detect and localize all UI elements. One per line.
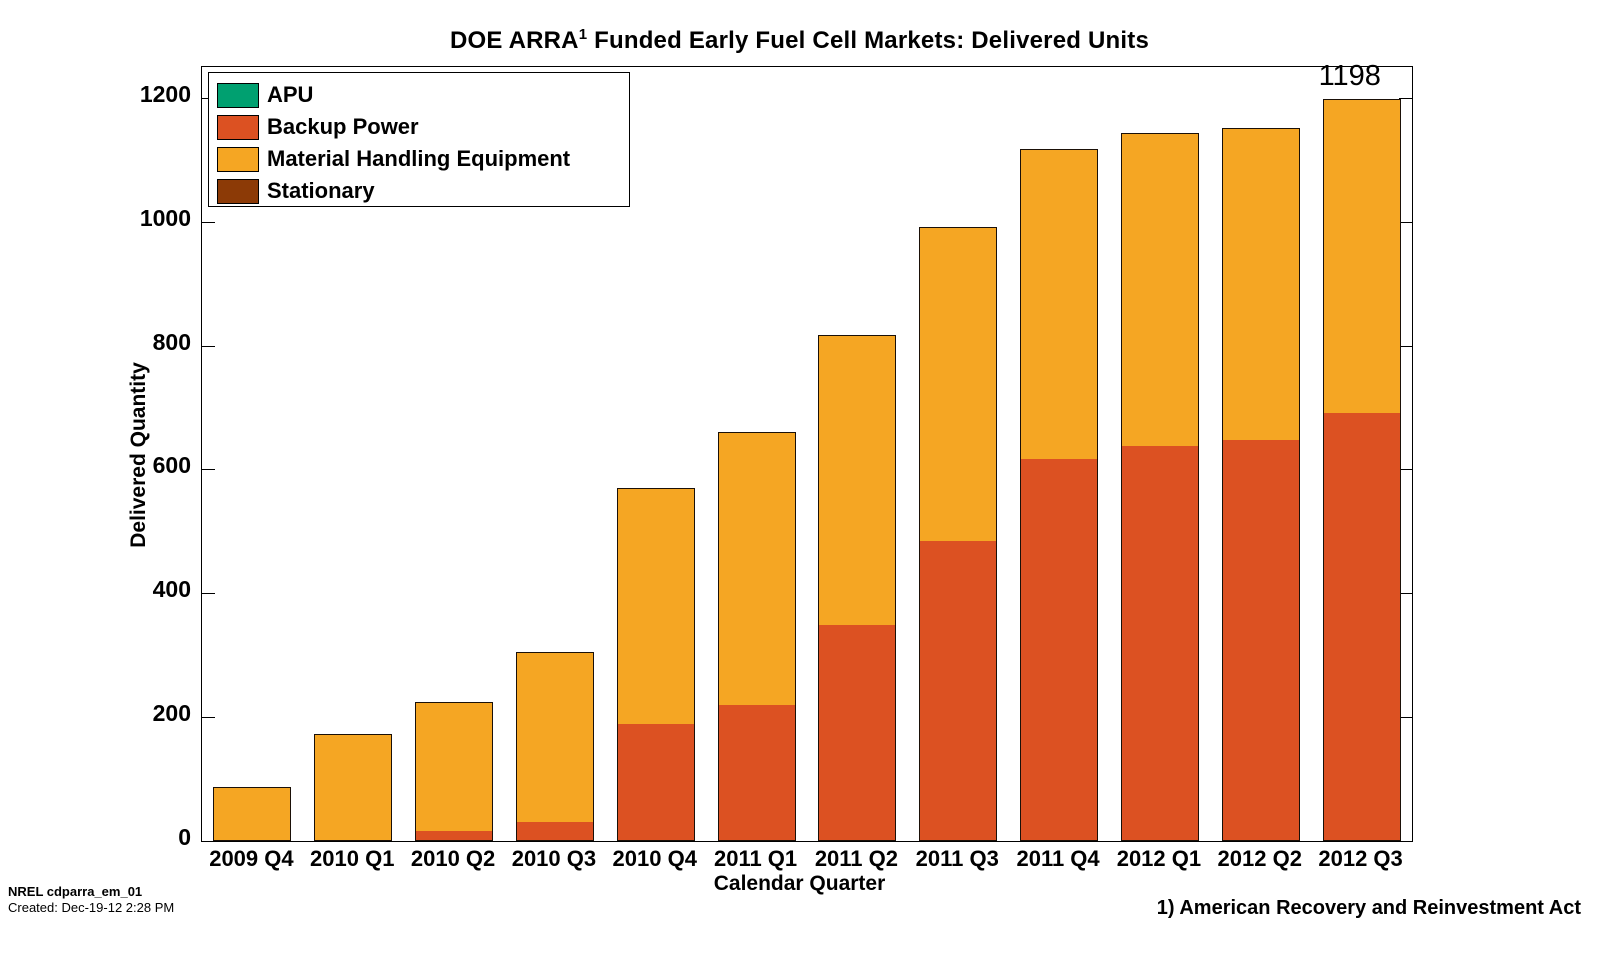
bar-segment[interactable] bbox=[415, 702, 493, 831]
legend-item-apu[interactable]: APU bbox=[217, 79, 629, 111]
bar-segment[interactable] bbox=[617, 488, 695, 724]
y-axis-tick-label: 600 bbox=[153, 452, 191, 479]
bar-segment[interactable] bbox=[1222, 439, 1300, 841]
footnote-text: 1) American Recovery and Reinvestment Ac… bbox=[1157, 897, 1581, 920]
bar-group[interactable] bbox=[718, 67, 796, 841]
y-axis-tick-label: 1000 bbox=[140, 205, 191, 232]
bar-group[interactable] bbox=[1121, 67, 1199, 841]
bar-group[interactable] bbox=[818, 67, 896, 841]
bar-segment[interactable] bbox=[1020, 149, 1098, 459]
y-axis-tick-label: 200 bbox=[153, 700, 191, 727]
bar-segment[interactable] bbox=[617, 723, 695, 841]
y-axis-tick-label: 800 bbox=[153, 329, 191, 356]
legend-label-material-handling-equipment: Material Handling Equipment bbox=[267, 148, 570, 170]
bar-segment[interactable] bbox=[919, 540, 997, 841]
y-axis-label-wrapper: Delivered Quantity bbox=[125, 0, 155, 960]
bar-segment[interactable] bbox=[213, 787, 291, 841]
bar-segment[interactable] bbox=[1323, 99, 1401, 413]
legend-swatch-stationary bbox=[217, 179, 259, 204]
footer-created-line: Created: Dec-19-12 2:28 PM bbox=[8, 900, 174, 916]
bar-segment[interactable] bbox=[1121, 445, 1199, 841]
bar-segment[interactable] bbox=[1222, 128, 1300, 440]
legend-swatch-backup-power bbox=[217, 115, 259, 140]
x-axis-tick-label: 2010 Q4 bbox=[604, 846, 705, 872]
x-axis-tick-label: 2009 Q4 bbox=[201, 846, 302, 872]
bar-segment[interactable] bbox=[1020, 458, 1098, 841]
x-axis-tick-label: 2010 Q3 bbox=[504, 846, 605, 872]
x-axis-label: Calendar Quarter bbox=[0, 872, 1599, 896]
x-axis-tick-label: 2010 Q2 bbox=[403, 846, 504, 872]
legend: APU Backup Power Material Handling Equip… bbox=[208, 72, 630, 207]
y-axis-tick-label: 1200 bbox=[140, 81, 191, 108]
x-axis-tick-label: 2011 Q2 bbox=[806, 846, 907, 872]
y-axis-tick bbox=[202, 841, 215, 842]
legend-label-stationary: Stationary bbox=[267, 180, 375, 202]
page-title: DOE ARRA1 Funded Early Fuel Cell Markets… bbox=[0, 26, 1599, 55]
x-axis-tick-label: 2011 Q1 bbox=[705, 846, 806, 872]
legend-item-material-handling-equipment[interactable]: Material Handling Equipment bbox=[217, 143, 629, 175]
bar-value-annotation: 1198 bbox=[1319, 60, 1381, 93]
legend-swatch-material-handling-equipment bbox=[217, 147, 259, 172]
legend-swatch-apu bbox=[217, 83, 259, 108]
bar-segment[interactable] bbox=[516, 821, 594, 841]
bar-segment[interactable] bbox=[415, 830, 493, 841]
bar-segment[interactable] bbox=[516, 652, 594, 823]
legend-item-stationary[interactable]: Stationary bbox=[217, 175, 629, 207]
bar-group[interactable] bbox=[919, 67, 997, 841]
title-footnote-superscript: 1 bbox=[579, 26, 588, 43]
bar-group[interactable] bbox=[1020, 67, 1098, 841]
y-axis-tick-label: 0 bbox=[178, 824, 191, 851]
title-rest-text: Funded Early Fuel Cell Markets: Delivere… bbox=[587, 27, 1149, 54]
legend-item-backup-power[interactable]: Backup Power bbox=[217, 111, 629, 143]
footer-id-line: NREL cdparra_em_01 bbox=[8, 884, 174, 900]
x-axis-tick-label: 2011 Q4 bbox=[1008, 846, 1109, 872]
x-axis-tick-label: 2010 Q1 bbox=[302, 846, 403, 872]
title-main-text: DOE ARRA bbox=[450, 27, 579, 54]
bar-segment[interactable] bbox=[314, 734, 392, 841]
legend-label-backup-power: Backup Power bbox=[267, 116, 419, 138]
x-axis-tick-label: 2011 Q3 bbox=[907, 846, 1008, 872]
bar-segment[interactable] bbox=[718, 432, 796, 705]
y-axis-tick bbox=[1399, 841, 1412, 842]
footer-credit: NREL cdparra_em_01 Created: Dec-19-12 2:… bbox=[8, 884, 174, 916]
x-axis-tick-label: 2012 Q1 bbox=[1109, 846, 1210, 872]
y-axis-tick-label: 400 bbox=[153, 576, 191, 603]
bar-segment[interactable] bbox=[818, 335, 896, 625]
legend-label-apu: APU bbox=[267, 84, 313, 106]
bar-segment[interactable] bbox=[718, 704, 796, 841]
bar-segment[interactable] bbox=[1121, 133, 1199, 446]
bar-segment[interactable] bbox=[1323, 412, 1401, 841]
bar-group[interactable] bbox=[1222, 67, 1300, 841]
x-axis-tick-label: 2012 Q2 bbox=[1209, 846, 1310, 872]
bar-segment[interactable] bbox=[818, 624, 896, 841]
bar-segment[interactable] bbox=[919, 227, 997, 540]
bar-group[interactable] bbox=[1323, 67, 1401, 841]
y-axis-label: Delivered Quantity bbox=[127, 362, 151, 548]
x-axis-tick-label: 2012 Q3 bbox=[1310, 846, 1411, 872]
